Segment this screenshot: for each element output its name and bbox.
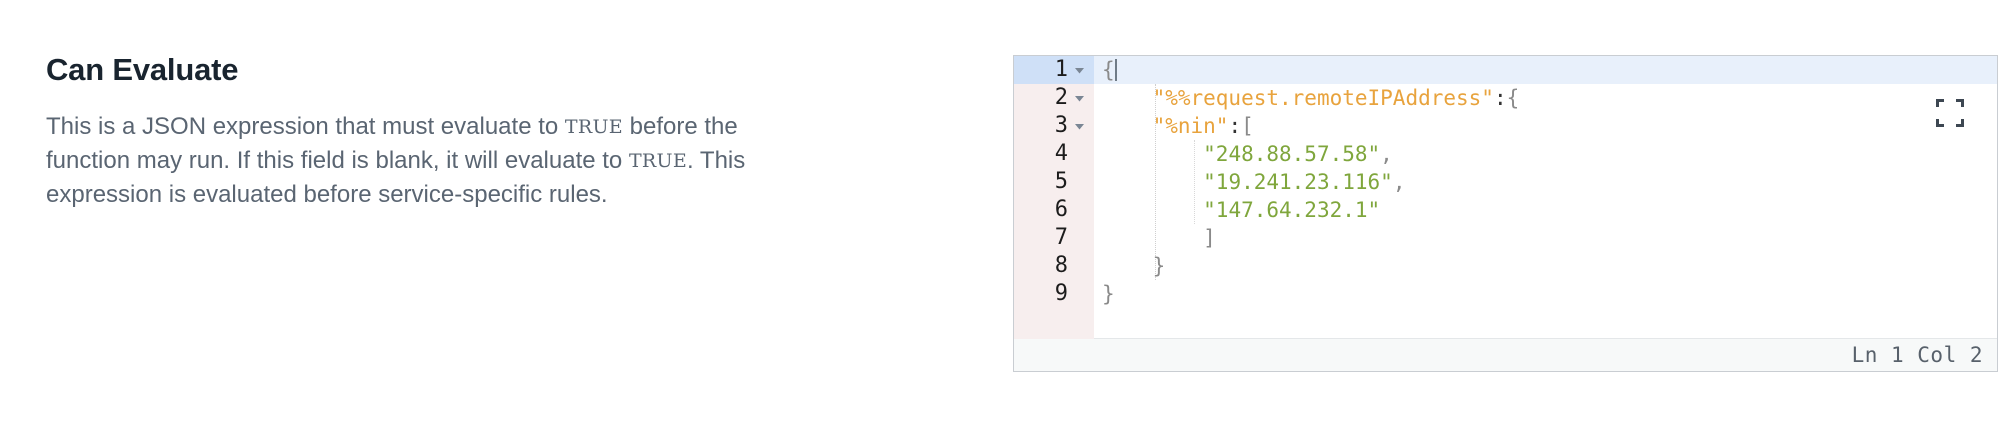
code-line[interactable]: "147.64.232.1" bbox=[1102, 196, 1997, 224]
code-token-punct: , bbox=[1380, 142, 1393, 166]
line-number-gutter[interactable]: 123456789 bbox=[1014, 56, 1094, 339]
code-token-plain bbox=[1102, 142, 1203, 166]
code-line[interactable]: "%%request.remoteIPAddress":{ bbox=[1102, 84, 1997, 112]
gutter-line[interactable]: 7 bbox=[1014, 224, 1094, 252]
line-number: 6 bbox=[1046, 196, 1068, 224]
code-token-punct: , bbox=[1393, 170, 1406, 194]
gutter-line[interactable]: 1 bbox=[1014, 56, 1094, 84]
code-line[interactable]: "19.241.23.116", bbox=[1102, 168, 1997, 196]
fold-placeholder bbox=[1070, 252, 1088, 280]
chevron-down-icon[interactable] bbox=[1070, 56, 1088, 84]
code-line[interactable]: ] bbox=[1102, 224, 1997, 252]
fold-placeholder bbox=[1070, 224, 1088, 252]
code-line[interactable]: "%nin":[ bbox=[1102, 112, 1997, 140]
code-token-plain bbox=[1102, 170, 1203, 194]
code-line[interactable]: { bbox=[1102, 56, 1997, 84]
line-number: 3 bbox=[1046, 112, 1068, 140]
code-token-plain bbox=[1102, 226, 1203, 250]
gutter-line[interactable]: 2 bbox=[1014, 84, 1094, 112]
gutter-line[interactable]: 5 bbox=[1014, 168, 1094, 196]
fold-placeholder bbox=[1070, 196, 1088, 224]
code-token-punct: } bbox=[1153, 254, 1166, 278]
code-token-plain bbox=[1102, 114, 1153, 138]
code-token-punct: [ bbox=[1241, 114, 1254, 138]
chevron-down-icon[interactable] bbox=[1070, 84, 1088, 112]
fold-placeholder bbox=[1070, 140, 1088, 168]
code-line[interactable]: "248.88.57.58", bbox=[1102, 140, 1997, 168]
fold-placeholder bbox=[1070, 168, 1088, 196]
code-token-str: "248.88.57.58" bbox=[1203, 142, 1380, 166]
desc-keyword-true-2: TRUE bbox=[629, 150, 687, 172]
json-code-editor[interactable]: 123456789 { "%%request.remoteIPAddress":… bbox=[1013, 55, 1998, 372]
code-token-key: "%%request.remoteIPAddress" bbox=[1153, 86, 1494, 110]
line-number: 8 bbox=[1046, 252, 1068, 280]
code-token-colon: : bbox=[1494, 86, 1507, 110]
code-token-plain bbox=[1102, 254, 1153, 278]
line-number: 4 bbox=[1046, 140, 1068, 168]
line-number: 7 bbox=[1046, 224, 1068, 252]
code-token-punct: { bbox=[1102, 58, 1115, 82]
code-content[interactable]: { "%%request.remoteIPAddress":{ "%nin":[… bbox=[1094, 56, 1997, 308]
line-number: 9 bbox=[1046, 280, 1068, 308]
gutter-line[interactable]: 6 bbox=[1014, 196, 1094, 224]
code-token-plain bbox=[1102, 86, 1153, 110]
code-token-punct: ] bbox=[1203, 226, 1216, 250]
gutter-line[interactable]: 8 bbox=[1014, 252, 1094, 280]
fold-placeholder bbox=[1070, 280, 1088, 308]
gutter-line[interactable]: 3 bbox=[1014, 112, 1094, 140]
code-token-punct: { bbox=[1507, 86, 1520, 110]
code-token-str: "19.241.23.116" bbox=[1203, 170, 1393, 194]
code-token-key: "%nin" bbox=[1153, 114, 1229, 138]
editor-status-bar: Ln 1 Col 2 bbox=[1014, 338, 1997, 371]
gutter-line[interactable]: 4 bbox=[1014, 140, 1094, 168]
line-number: 1 bbox=[1046, 56, 1068, 84]
code-token-punct: } bbox=[1102, 282, 1115, 306]
code-area[interactable]: { "%%request.remoteIPAddress":{ "%nin":[… bbox=[1094, 56, 1997, 339]
code-line[interactable]: } bbox=[1102, 252, 1997, 280]
code-token-plain bbox=[1102, 198, 1203, 222]
desc-keyword-true-1: TRUE bbox=[565, 116, 623, 138]
expand-fullscreen-icon[interactable] bbox=[1935, 98, 1965, 128]
code-line[interactable]: } bbox=[1102, 280, 1997, 308]
code-token-colon: : bbox=[1228, 114, 1241, 138]
description-paragraph: This is a JSON expression that must eval… bbox=[46, 110, 746, 212]
gutter-line[interactable]: 9 bbox=[1014, 280, 1094, 308]
editor-body[interactable]: 123456789 { "%%request.remoteIPAddress":… bbox=[1014, 56, 1997, 339]
code-token-str: "147.64.232.1" bbox=[1203, 198, 1380, 222]
description-column: Can Evaluate This is a JSON expression t… bbox=[46, 52, 746, 212]
line-number: 5 bbox=[1046, 168, 1068, 196]
desc-text-part-1: This is a JSON expression that must eval… bbox=[46, 113, 565, 140]
page-title: Can Evaluate bbox=[46, 52, 746, 88]
chevron-down-icon[interactable] bbox=[1070, 112, 1088, 140]
cursor-position-status: Ln 1 Col 2 bbox=[1852, 343, 1983, 367]
line-number: 2 bbox=[1046, 84, 1068, 112]
text-cursor bbox=[1115, 59, 1117, 81]
